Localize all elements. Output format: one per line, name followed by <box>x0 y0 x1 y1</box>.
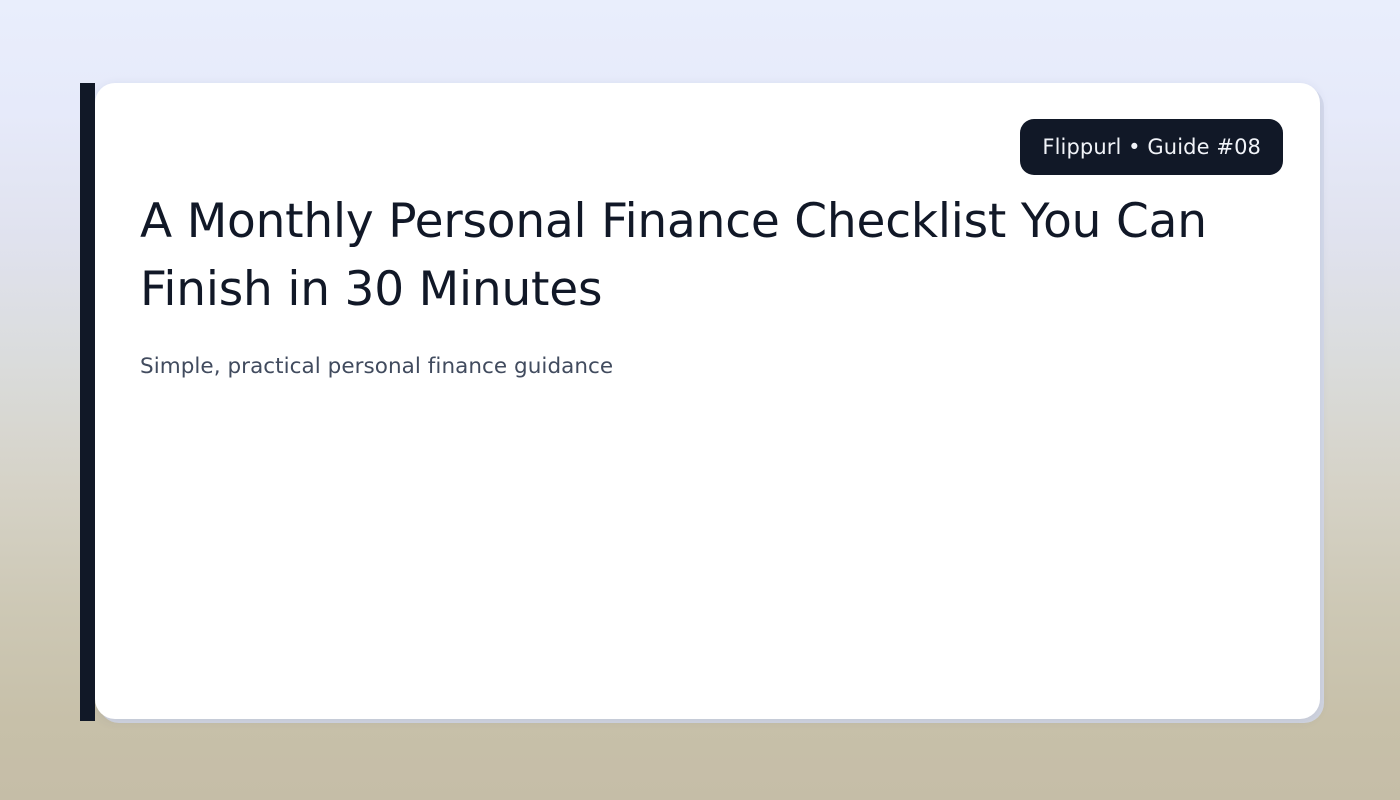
slide-card: Flippurl • Guide #08 A Monthly Personal … <box>95 83 1320 719</box>
guide-badge-label: Flippurl • Guide #08 <box>1042 135 1261 159</box>
left-accent-bar <box>80 83 95 721</box>
page-subtitle: Simple, practical personal finance guida… <box>140 352 1240 382</box>
page-title: A Monthly Personal Finance Checklist You… <box>140 188 1230 324</box>
slide-container: Flippurl • Guide #08 A Monthly Personal … <box>80 83 1320 719</box>
guide-badge: Flippurl • Guide #08 <box>1020 119 1283 175</box>
slide-content: A Monthly Personal Finance Checklist You… <box>140 188 1240 382</box>
